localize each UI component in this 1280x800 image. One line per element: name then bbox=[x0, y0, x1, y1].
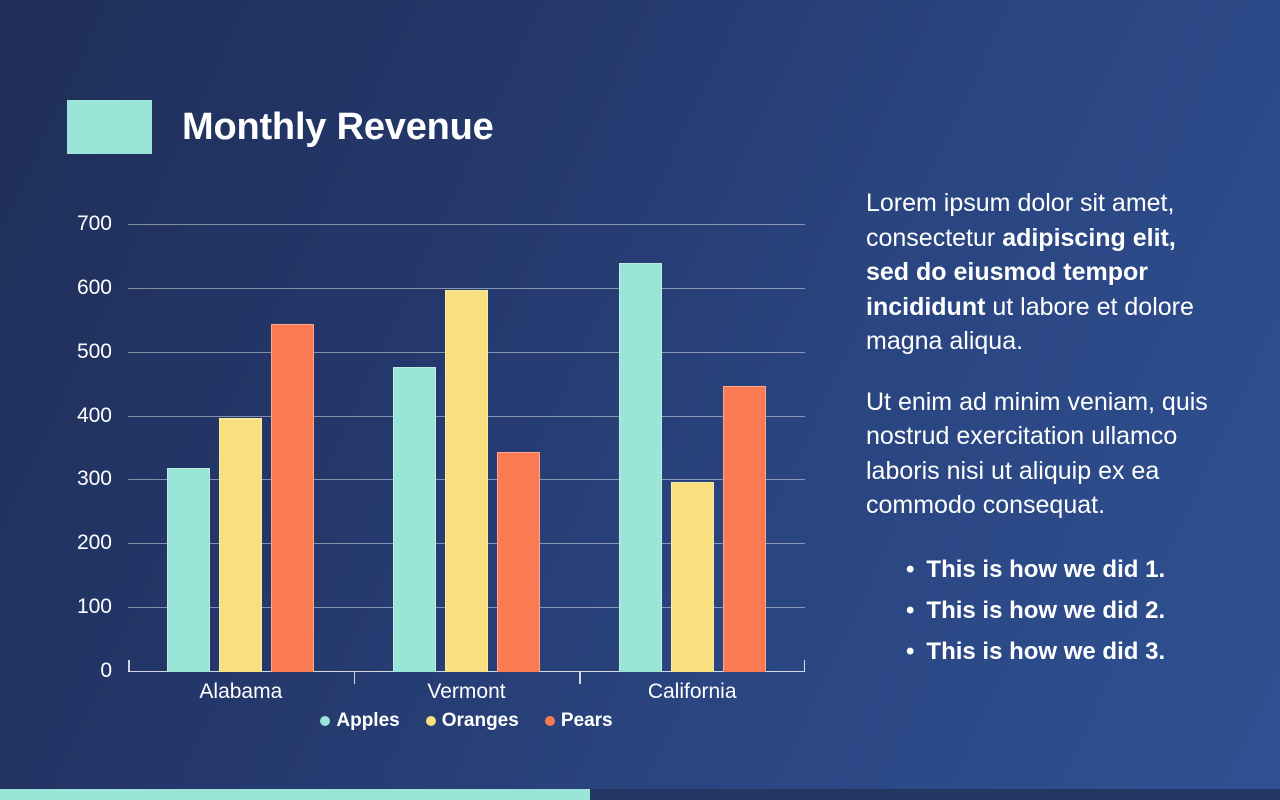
y-axis-tick-200: 200 bbox=[77, 531, 112, 555]
bar-alabama-pears[interactable] bbox=[271, 324, 314, 672]
x-axis-label-vermont: Vermont bbox=[354, 680, 580, 704]
legend-item-apples[interactable]: Apples bbox=[320, 710, 399, 732]
slide-canvas: Monthly Revenue 7006005004003002001000 A… bbox=[0, 0, 1280, 800]
bullet-text: This is how we did 2. bbox=[926, 590, 1165, 631]
footer-bar-right bbox=[590, 789, 1280, 800]
legend-label: Pears bbox=[561, 710, 613, 732]
bullet-text: This is how we did 3. bbox=[926, 631, 1165, 672]
bar-alabama-apples[interactable] bbox=[167, 468, 210, 672]
bar-california-apples[interactable] bbox=[619, 263, 662, 672]
x-axis-labels: AlabamaVermontCalifornia bbox=[128, 680, 805, 704]
y-axis-tick-600: 600 bbox=[77, 276, 112, 300]
bullet-item-3: •This is how we did 3. bbox=[906, 631, 1216, 672]
y-axis-tick-500: 500 bbox=[77, 340, 112, 364]
bar-vermont-apples[interactable] bbox=[393, 367, 436, 672]
bar-california-oranges[interactable] bbox=[671, 482, 714, 672]
bar-group-vermont bbox=[354, 225, 580, 672]
x-axis-label-alabama: Alabama bbox=[128, 680, 354, 704]
text-panel: Lorem ipsum dolor sit amet, consectetur … bbox=[866, 186, 1216, 672]
legend-swatch-icon bbox=[320, 716, 330, 726]
bar-alabama-oranges[interactable] bbox=[219, 418, 262, 672]
chart-plot-area: 7006005004003002001000 bbox=[128, 225, 805, 672]
bar-vermont-oranges[interactable] bbox=[445, 290, 488, 672]
bullet-list: •This is how we did 1.•This is how we di… bbox=[866, 549, 1216, 672]
bullet-marker-icon: • bbox=[906, 549, 914, 590]
paragraph-1: Lorem ipsum dolor sit amet, consectetur … bbox=[866, 186, 1216, 359]
y-axis-tick-0: 0 bbox=[100, 659, 112, 683]
legend-swatch-icon bbox=[545, 716, 555, 726]
x-axis-label-california: California bbox=[579, 680, 805, 704]
y-axis-tick-700: 700 bbox=[77, 212, 112, 236]
bar-group-california bbox=[579, 225, 805, 672]
legend-item-oranges[interactable]: Oranges bbox=[426, 710, 519, 732]
bullet-item-1: •This is how we did 1. bbox=[906, 549, 1216, 590]
y-axis-tick-400: 400 bbox=[77, 404, 112, 428]
y-axis-tick-100: 100 bbox=[77, 595, 112, 619]
y-axis-tick-300: 300 bbox=[77, 467, 112, 491]
bar-group-alabama bbox=[128, 225, 354, 672]
bar-groups bbox=[128, 225, 805, 672]
legend-label: Apples bbox=[336, 710, 399, 732]
bullet-marker-icon: • bbox=[906, 631, 914, 672]
bullet-text: This is how we did 1. bbox=[926, 549, 1165, 590]
legend-swatch-icon bbox=[426, 716, 436, 726]
chart-legend: ApplesOrangesPears bbox=[128, 710, 805, 732]
footer-bar bbox=[0, 789, 1280, 800]
legend-label: Oranges bbox=[442, 710, 519, 732]
legend-item-pears[interactable]: Pears bbox=[545, 710, 613, 732]
bar-california-pears[interactable] bbox=[723, 386, 766, 672]
bar-vermont-pears[interactable] bbox=[497, 452, 540, 672]
paragraph-2: Ut enim ad minim veniam, quis nostrud ex… bbox=[866, 385, 1216, 523]
bar-chart: 7006005004003002001000 AlabamaVermontCal… bbox=[0, 0, 830, 760]
footer-bar-left-accent bbox=[0, 789, 590, 800]
bullet-marker-icon: • bbox=[906, 590, 914, 631]
bullet-item-2: •This is how we did 2. bbox=[906, 590, 1216, 631]
